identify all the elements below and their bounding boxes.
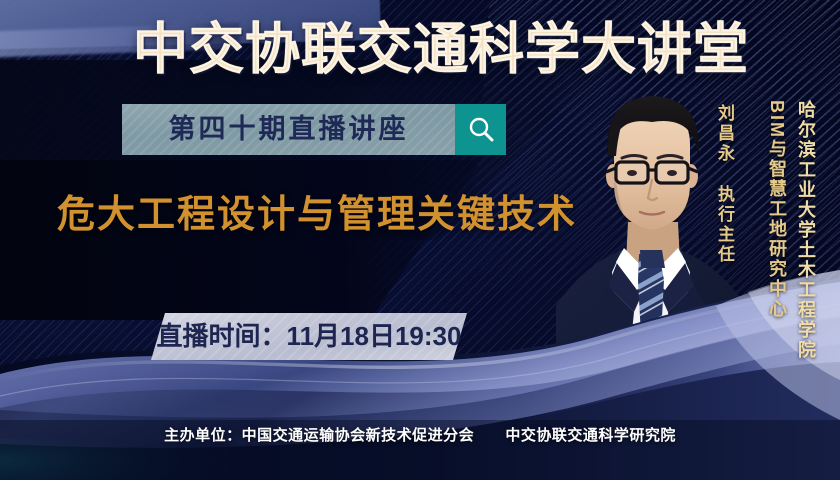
speaker-org-school: 哈尔滨工业大学土木工程学院 — [793, 100, 819, 360]
episode-label: 第四十期直播讲座 — [122, 104, 455, 155]
footer-organizers: 主办单位：中国交通运输协会新技术促进分会 中交协联交通科学研究院 — [0, 424, 840, 445]
bottom-ribbon-graphic — [0, 270, 840, 480]
speaker-name: 刘昌永 — [712, 104, 737, 164]
search-icon — [466, 115, 496, 145]
broadcast-time-banner: 直播时间：11月18日19:30 — [151, 313, 467, 360]
speaker-org-center: BIM与智慧工地研究中心 — [764, 100, 790, 319]
episode-banner: 第四十期直播讲座 — [122, 104, 455, 155]
footer-organizer-primary: 主办单位：中国交通运输协会新技术促进分会 — [164, 424, 474, 445]
search-button[interactable] — [455, 104, 506, 155]
page-title: 中交协联交通科学大讲堂 — [133, 17, 713, 81]
lecture-title: 危大工程设计与管理关键技术 — [57, 190, 577, 240]
speaker-role: 执行主任 — [712, 185, 737, 265]
broadcast-time-label: 直播时间：11月18日19:30 — [151, 313, 467, 360]
livestream-poster: 中交协联交通科学大讲堂 第四十期直播讲座 危大工程设计与管理关键技术 直播时间：… — [0, 0, 840, 480]
footer-organizer-secondary: 中交协联交通科学研究院 — [505, 424, 676, 445]
